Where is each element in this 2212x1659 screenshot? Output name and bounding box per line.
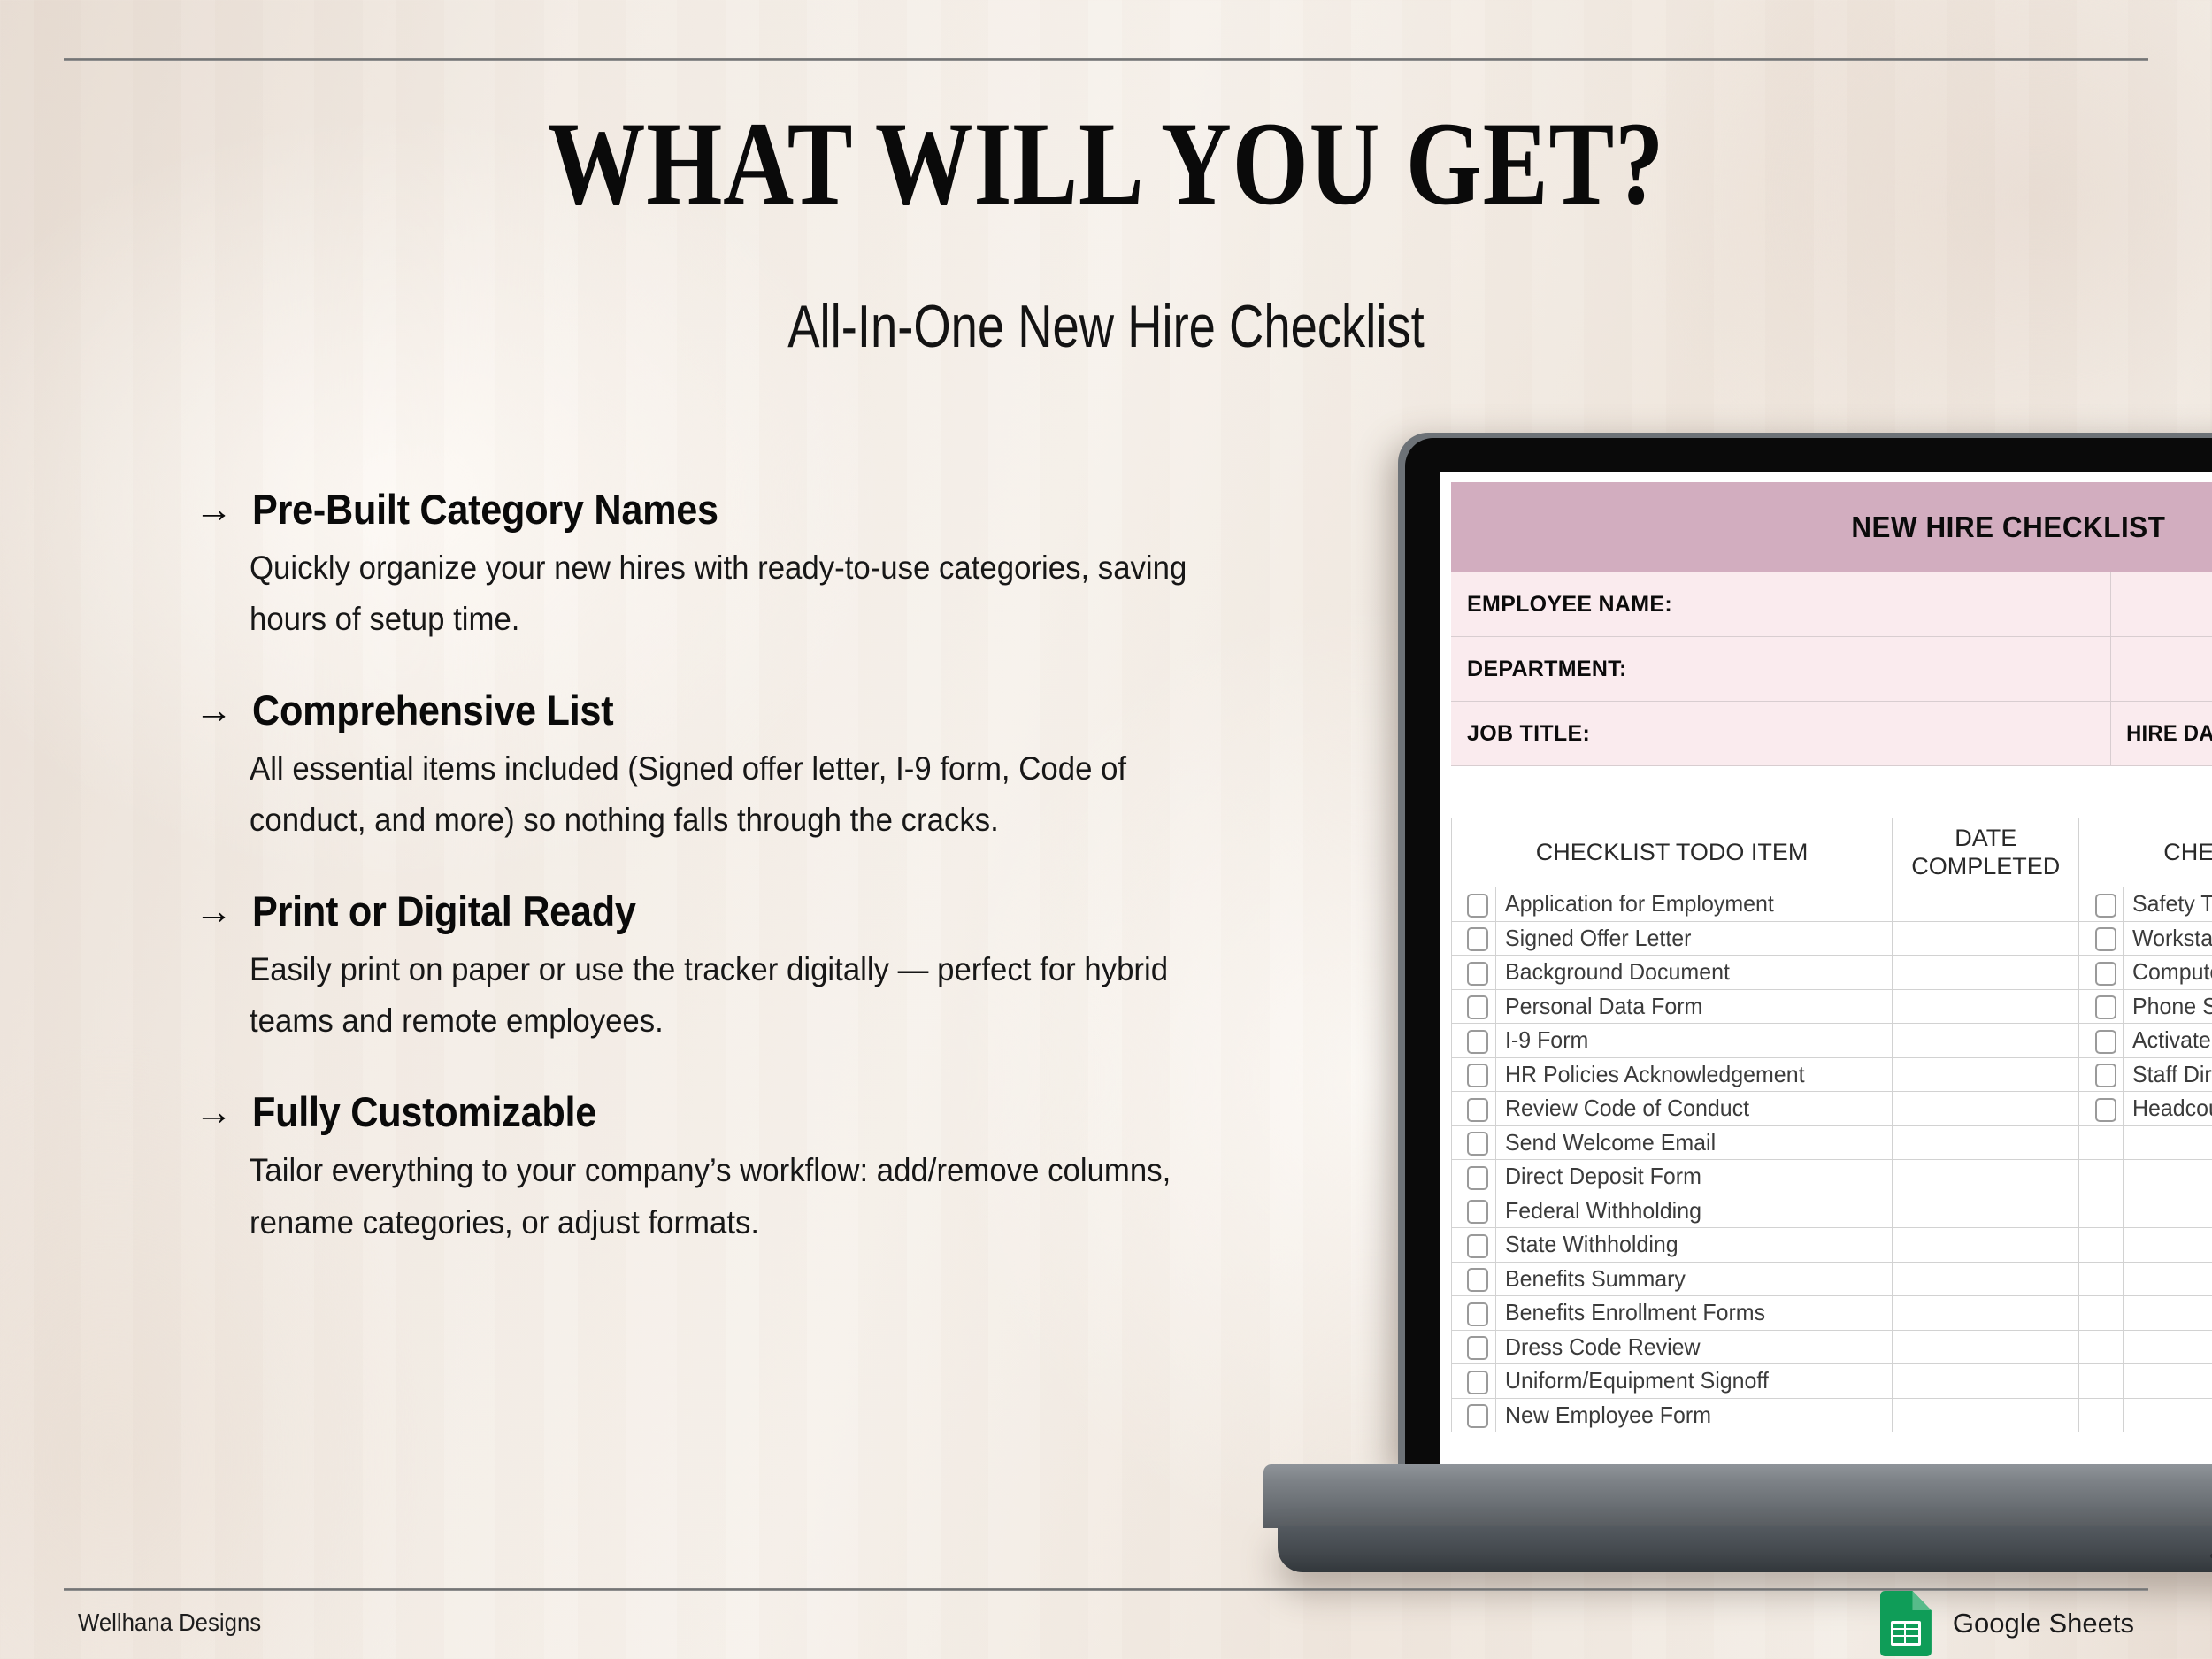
checkbox-cell [2079,1125,2124,1160]
checkbox-cell[interactable] [1452,1262,1496,1296]
feature-list: → Pre-Built Category Names Quickly organ… [195,485,1248,1248]
checkbox-icon[interactable] [1467,1098,1488,1122]
checklist-item-cell [2124,1125,2212,1160]
checklist-item-cell [2124,1262,2212,1296]
checklist-item-cell: Uniform/Equipment Signoff [1495,1364,1893,1399]
checkbox-cell[interactable] [2079,921,2124,956]
checkbox-icon[interactable] [1467,1030,1488,1054]
google-sheets-icon [1880,1591,1932,1656]
date-completed-cell[interactable] [1893,1160,2079,1194]
feature-heading: → Pre-Built Category Names [195,485,1248,534]
table-row: Dress Code Review [1452,1330,2212,1364]
checklist-item-cell [2124,1194,2212,1228]
checkbox-cell[interactable] [2079,956,2124,990]
checklist-item-label: Staff Directory [2132,1061,2212,1088]
checklist-item-label: Federal Withholding [1505,1197,1701,1225]
date-completed-cell[interactable] [1893,1398,2079,1432]
checklist-item-label: Review Code of Conduct [1505,1094,1749,1122]
checkbox-cell[interactable] [1452,1364,1496,1399]
date-completed-cell[interactable] [1893,989,2079,1024]
info-label-cell: DEPARTMENT: [1451,657,2110,682]
spreadsheet-spacer [1451,766,2212,818]
checkbox-cell[interactable] [1452,1125,1496,1160]
date-completed-cell[interactable] [1893,956,2079,990]
checklist-item-cell: Benefits Enrollment Forms [1495,1296,1893,1331]
checkbox-icon[interactable] [1467,1371,1488,1394]
date-completed-cell[interactable] [1893,1262,2079,1296]
checkbox-icon[interactable] [1467,1404,1488,1428]
table-row: HR Policies AcknowledgementStaff Directo… [1452,1057,2212,1092]
bottom-divider [64,1588,2148,1591]
checkbox-cell[interactable] [2079,1057,2124,1092]
feature-description: Quickly organize your new hires with rea… [250,542,1187,645]
hire-date-cell[interactable]: HIRE DATE: [2110,702,2212,765]
checkbox-icon[interactable] [1467,1234,1488,1258]
checkbox-cell [2079,1296,2124,1331]
checkbox-icon[interactable] [2095,962,2116,986]
checkbox-cell[interactable] [1452,1057,1496,1092]
date-completed-cell[interactable] [1893,1092,2079,1126]
info-row-department: DEPARTMENT: [1451,637,2212,702]
checkbox-cell[interactable] [1452,1296,1496,1331]
checkbox-icon[interactable] [1467,1336,1488,1360]
checkbox-icon[interactable] [1467,1302,1488,1326]
checklist-item-cell: Dress Code Review [1495,1330,1893,1364]
checklist-body: Application for EmploymentSafety Trainin… [1452,887,2212,1432]
table-row: Benefits Enrollment Forms [1452,1296,2212,1331]
checklist-item-cell: Activate Badge [2124,1024,2212,1058]
table-row: Uniform/Equipment Signoff [1452,1364,2212,1399]
feature-title: Print or Digital Ready [252,887,636,935]
department-label: DEPARTMENT: [1451,657,1627,681]
checkbox-icon[interactable] [2095,1064,2116,1087]
checklist-item-label: Safety Training [2132,890,2212,918]
date-completed-cell[interactable] [1893,921,2079,956]
checkbox-cell [2079,1228,2124,1263]
checkbox-cell[interactable] [1452,1160,1496,1194]
checkbox-icon[interactable] [1467,1166,1488,1190]
laptop-base [1263,1464,2212,1571]
checkbox-icon[interactable] [2095,1030,2116,1054]
checkbox-icon[interactable] [2095,927,2116,951]
checkbox-icon[interactable] [2095,995,2116,1019]
checklist-item-label: Direct Deposit Form [1505,1163,1701,1190]
table-row: Signed Offer LetterWorkstation Setup [1452,921,2212,956]
checkbox-cell[interactable] [2079,887,2124,922]
checklist-item-cell: Benefits Summary [1495,1262,1893,1296]
feature-heading: → Comprehensive List [195,686,1248,734]
date-completed-cell[interactable] [1893,1125,2079,1160]
table-row: Federal Withholding [1452,1194,2212,1228]
checklist-item-label: Application for Employment [1505,890,1774,918]
checklist-item-label: Uniform/Equipment Signoff [1505,1367,1769,1394]
checkbox-icon[interactable] [1467,962,1488,986]
checkbox-cell [2079,1194,2124,1228]
checklist-item-cell: Federal Withholding [1495,1194,1893,1228]
checklist-item-cell [2124,1160,2212,1194]
feature-heading: → Print or Digital Ready [195,887,1248,935]
arrow-right-icon: → [195,491,233,529]
checklist-item-label: I-9 Form [1505,1026,1588,1054]
checklist-item-cell: New Employee Form [1495,1398,1893,1432]
footer-app-badge: Google Sheets [1880,1591,2134,1656]
checklist-item-cell [2124,1398,2212,1432]
checklist-item-cell: Direct Deposit Form [1495,1160,1893,1194]
checklist-item-cell: Phone Setup [2124,989,2212,1024]
laptop-base-top [1263,1464,2212,1528]
laptop-base-bottom [1278,1526,2212,1572]
checklist-item-label: Dress Code Review [1505,1333,1701,1361]
page-subtitle: All-In-One New Hire Checklist [221,296,1991,357]
page-title: WHAT WILL YOU GET? [199,104,2013,224]
date-completed-cell[interactable] [1893,1330,2079,1364]
date-completed-cell[interactable] [1893,1364,2079,1399]
checkbox-cell[interactable] [1452,1398,1496,1432]
checklist-item-label: Headcount Update [2132,1094,2212,1122]
table-row: Review Code of ConductHeadcount Update [1452,1092,2212,1126]
checklist-item-cell: Headcount Update [2124,1092,2212,1126]
hire-date-label: HIRE DATE: [2111,721,2212,747]
checkbox-cell[interactable] [1452,921,1496,956]
checklist-item-cell [2124,1228,2212,1263]
feature-item: → Comprehensive List All essential items… [195,686,1248,846]
column-header-todo-left: CHECKLIST TODO ITEM [1452,818,1893,887]
table-row: New Employee Form [1452,1398,2212,1432]
department-value[interactable] [2110,637,2212,701]
checklist-item-cell: Signed Offer Letter [1495,921,1893,956]
checklist-item-cell: State Withholding [1495,1228,1893,1263]
checklist-item-label: Send Welcome Email [1505,1129,1716,1156]
info-row-job-title: JOB TITLE: HIRE DATE: [1451,702,2212,766]
checkbox-cell [2079,1398,2124,1432]
checkbox-cell[interactable] [2079,1024,2124,1058]
feature-description: Easily print on paper or use the tracker… [250,944,1187,1047]
checkbox-cell[interactable] [2079,989,2124,1024]
checkbox-cell[interactable] [1452,989,1496,1024]
date-completed-cell[interactable] [1893,1024,2079,1058]
checkbox-cell[interactable] [2079,1092,2124,1126]
info-label-cell: EMPLOYEE NAME: [1451,592,2110,618]
employee-name-label: EMPLOYEE NAME: [1451,592,1672,617]
employee-name-value[interactable] [2110,572,2212,636]
checklist-item-label: State Withholding [1505,1231,1678,1258]
feature-heading: → Fully Customizable [195,1087,1248,1136]
checkbox-icon[interactable] [1467,1268,1488,1292]
checklist-item-label: Background Document [1505,958,1730,986]
checklist-item-label: Personal Data Form [1505,993,1702,1020]
date-completed-cell[interactable] [1893,1057,2079,1092]
checkbox-cell[interactable] [1452,1228,1496,1263]
checklist-item-label: Phone Setup [2132,993,2212,1020]
checkbox-cell [2079,1364,2124,1399]
table-row: Personal Data FormPhone Setup [1452,989,2212,1024]
checklist-item-cell: Review Code of Conduct [1495,1092,1893,1126]
feature-item: → Pre-Built Category Names Quickly organ… [195,485,1248,645]
date-completed-cell[interactable] [1893,1228,2079,1263]
arrow-right-icon: → [195,692,233,730]
checklist-item-cell: Send Welcome Email [1495,1125,1893,1160]
table-row: Direct Deposit Form [1452,1160,2212,1194]
checkbox-cell[interactable] [1452,1092,1496,1126]
checklist-item-label: New Employee Form [1505,1402,1711,1429]
checklist-item-cell [2124,1330,2212,1364]
checklist-table: CHECKLIST TODO ITEM DATE COMPLETED CHECK… [1451,818,2212,1432]
checklist-item-cell [2124,1296,2212,1331]
checkbox-icon[interactable] [2095,894,2116,918]
checkbox-icon[interactable] [1467,1200,1488,1224]
checkbox-icon[interactable] [1467,927,1488,951]
checklist-item-label: Activate Badge [2132,1026,2212,1054]
checklist-item-cell: Staff Directory [2124,1057,2212,1092]
footer-brand: Wellhana Designs [78,1609,261,1637]
feature-description: All essential items included (Signed off… [250,743,1187,846]
checklist-item-label: HR Policies Acknowledgement [1505,1061,1805,1088]
checklist-item-label: Benefits Enrollment Forms [1505,1299,1765,1326]
table-row: I-9 FormActivate Badge [1452,1024,2212,1058]
checklist-item-cell: Safety Training [2124,887,2212,922]
checklist-item-label: Workstation Setup [2132,925,2212,952]
checklist-item-cell: Personal Data Form [1495,989,1893,1024]
spreadsheet-title: NEW HIRE CHECKLIST [1851,511,2165,544]
table-row: Benefits Summary [1452,1262,2212,1296]
laptop-screen: NEW HIRE CHECKLIST EMPLOYEE NAME: DEPART… [1440,472,2212,1473]
job-title-label: JOB TITLE: [1451,721,1590,746]
checkbox-cell[interactable] [1452,887,1496,922]
table-row: Application for EmploymentSafety Trainin… [1452,887,2212,922]
checkbox-cell[interactable] [1452,1024,1496,1058]
checklist-item-label: Computer Setup [2132,958,2212,986]
checkbox-cell[interactable] [1452,956,1496,990]
arrow-right-icon: → [195,893,233,931]
spreadsheet: NEW HIRE CHECKLIST EMPLOYEE NAME: DEPART… [1451,482,2212,1473]
checkbox-icon[interactable] [1467,1064,1488,1087]
top-divider [64,58,2148,61]
checklist-item-label: Benefits Summary [1505,1265,1686,1293]
checklist-item-cell: Application for Employment [1495,887,1893,922]
feature-title: Pre-Built Category Names [252,485,718,534]
date-completed-cell[interactable] [1893,1296,2079,1331]
feature-title: Comprehensive List [252,686,613,734]
checklist-item-cell: Workstation Setup [2124,921,2212,956]
laptop-lid: NEW HIRE CHECKLIST EMPLOYEE NAME: DEPART… [1405,438,2212,1473]
checkbox-cell [2079,1330,2124,1364]
date-completed-cell[interactable] [1893,1194,2079,1228]
arrow-right-icon: → [195,1094,233,1132]
spreadsheet-banner: NEW HIRE CHECKLIST [1451,482,2212,572]
table-row: State Withholding [1452,1228,2212,1263]
checklist-item-label: Signed Offer Letter [1505,925,1691,952]
feature-item: → Print or Digital Ready Easily print on… [195,887,1248,1047]
checklist-item-cell: I-9 Form [1495,1024,1893,1058]
checkbox-cell[interactable] [1452,1330,1496,1364]
column-header-todo-right: CHECKLIST TODO ITEM [2079,818,2212,887]
checkbox-icon[interactable] [2095,1098,2116,1122]
info-label-cell: JOB TITLE: [1451,721,2110,747]
footer-app-label: Google Sheets [1953,1608,2134,1640]
info-row-employee-name: EMPLOYEE NAME: [1451,572,2212,637]
checkbox-cell [2079,1160,2124,1194]
checklist-item-cell: Computer Setup [2124,956,2212,990]
feature-item: → Fully Customizable Tailor everything t… [195,1087,1248,1248]
checkbox-icon[interactable] [1467,1132,1488,1156]
table-row: Background DocumentComputer Setup [1452,956,2212,990]
feature-title: Fully Customizable [252,1087,596,1136]
table-row: Send Welcome Email [1452,1125,2212,1160]
checkbox-icon[interactable] [1467,894,1488,918]
feature-description: Tailor everything to your company’s work… [250,1145,1187,1248]
checklist-header-row: CHECKLIST TODO ITEM DATE COMPLETED CHECK… [1452,818,2212,887]
laptop-mockup: NEW HIRE CHECKLIST EMPLOYEE NAME: DEPART… [1405,438,2212,1500]
checkbox-cell [2079,1262,2124,1296]
checkbox-icon[interactable] [1467,995,1488,1019]
checklist-item-cell: Background Document [1495,956,1893,990]
checkbox-cell[interactable] [1452,1194,1496,1228]
date-completed-cell[interactable] [1893,887,2079,922]
column-header-date-completed: DATE COMPLETED [1893,818,2079,887]
checklist-item-cell [2124,1364,2212,1399]
checklist-item-cell: HR Policies Acknowledgement [1495,1057,1893,1092]
